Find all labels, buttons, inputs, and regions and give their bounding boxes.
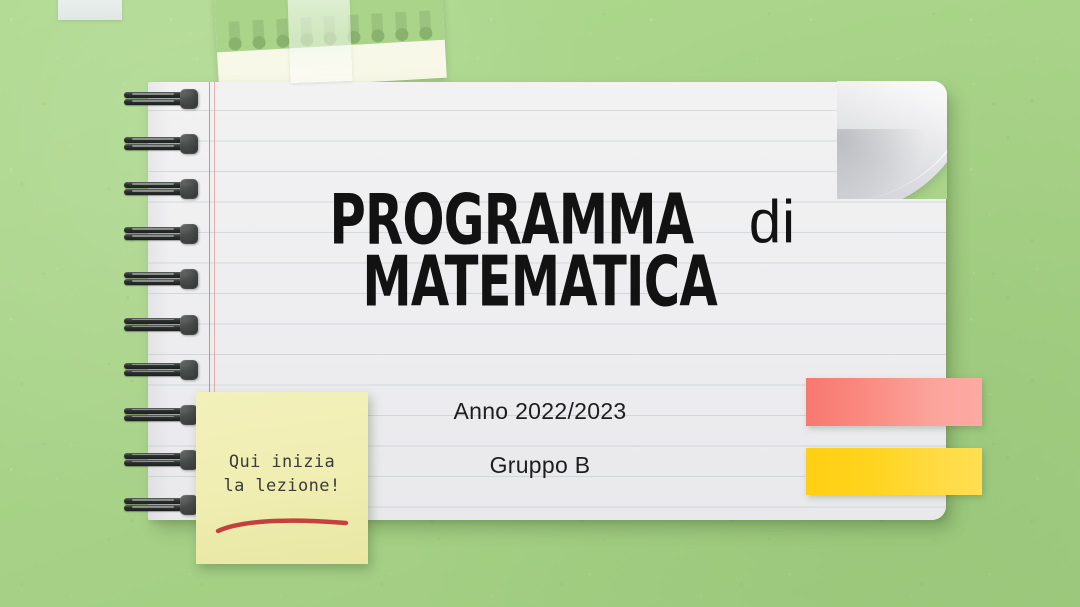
spiral-ring: [122, 449, 198, 471]
page-curl-shadow: [837, 129, 937, 199]
spiral-binding: [122, 88, 202, 516]
subtitle-gruppo: Gruppo B: [300, 452, 780, 479]
spiral-ring: [122, 178, 198, 200]
spiral-ring: [122, 359, 198, 381]
slide-subtitles: Anno 2022/2023 Gruppo B: [300, 398, 780, 479]
margin-line-right: [214, 82, 215, 394]
spiral-ring: [122, 314, 198, 336]
spiral-ring: [122, 88, 198, 110]
underline-swoosh-icon: [214, 514, 350, 536]
slide-canvas: PROGRAMMAdi MATEMATICA Anno 2022/2023 Gr…: [0, 0, 1080, 607]
spiral-ring: [122, 268, 198, 290]
pink-strip: [806, 378, 982, 426]
sticky-note-tape: [58, 0, 122, 20]
spiral-ring: [122, 494, 198, 516]
sticky-note-text: Qui inizia la lezione!: [196, 450, 368, 498]
sticky-note: Qui inizia la lezione!: [196, 392, 368, 564]
spiral-ring: [122, 223, 198, 245]
tape-strip-top: [288, 0, 353, 83]
page-curl-corner: [837, 81, 947, 199]
margin-line-left: [209, 82, 210, 394]
spiral-ring: [122, 404, 198, 426]
spiral-ring: [122, 133, 198, 155]
yellow-strip: [806, 448, 982, 495]
subtitle-anno: Anno 2022/2023: [300, 398, 780, 425]
